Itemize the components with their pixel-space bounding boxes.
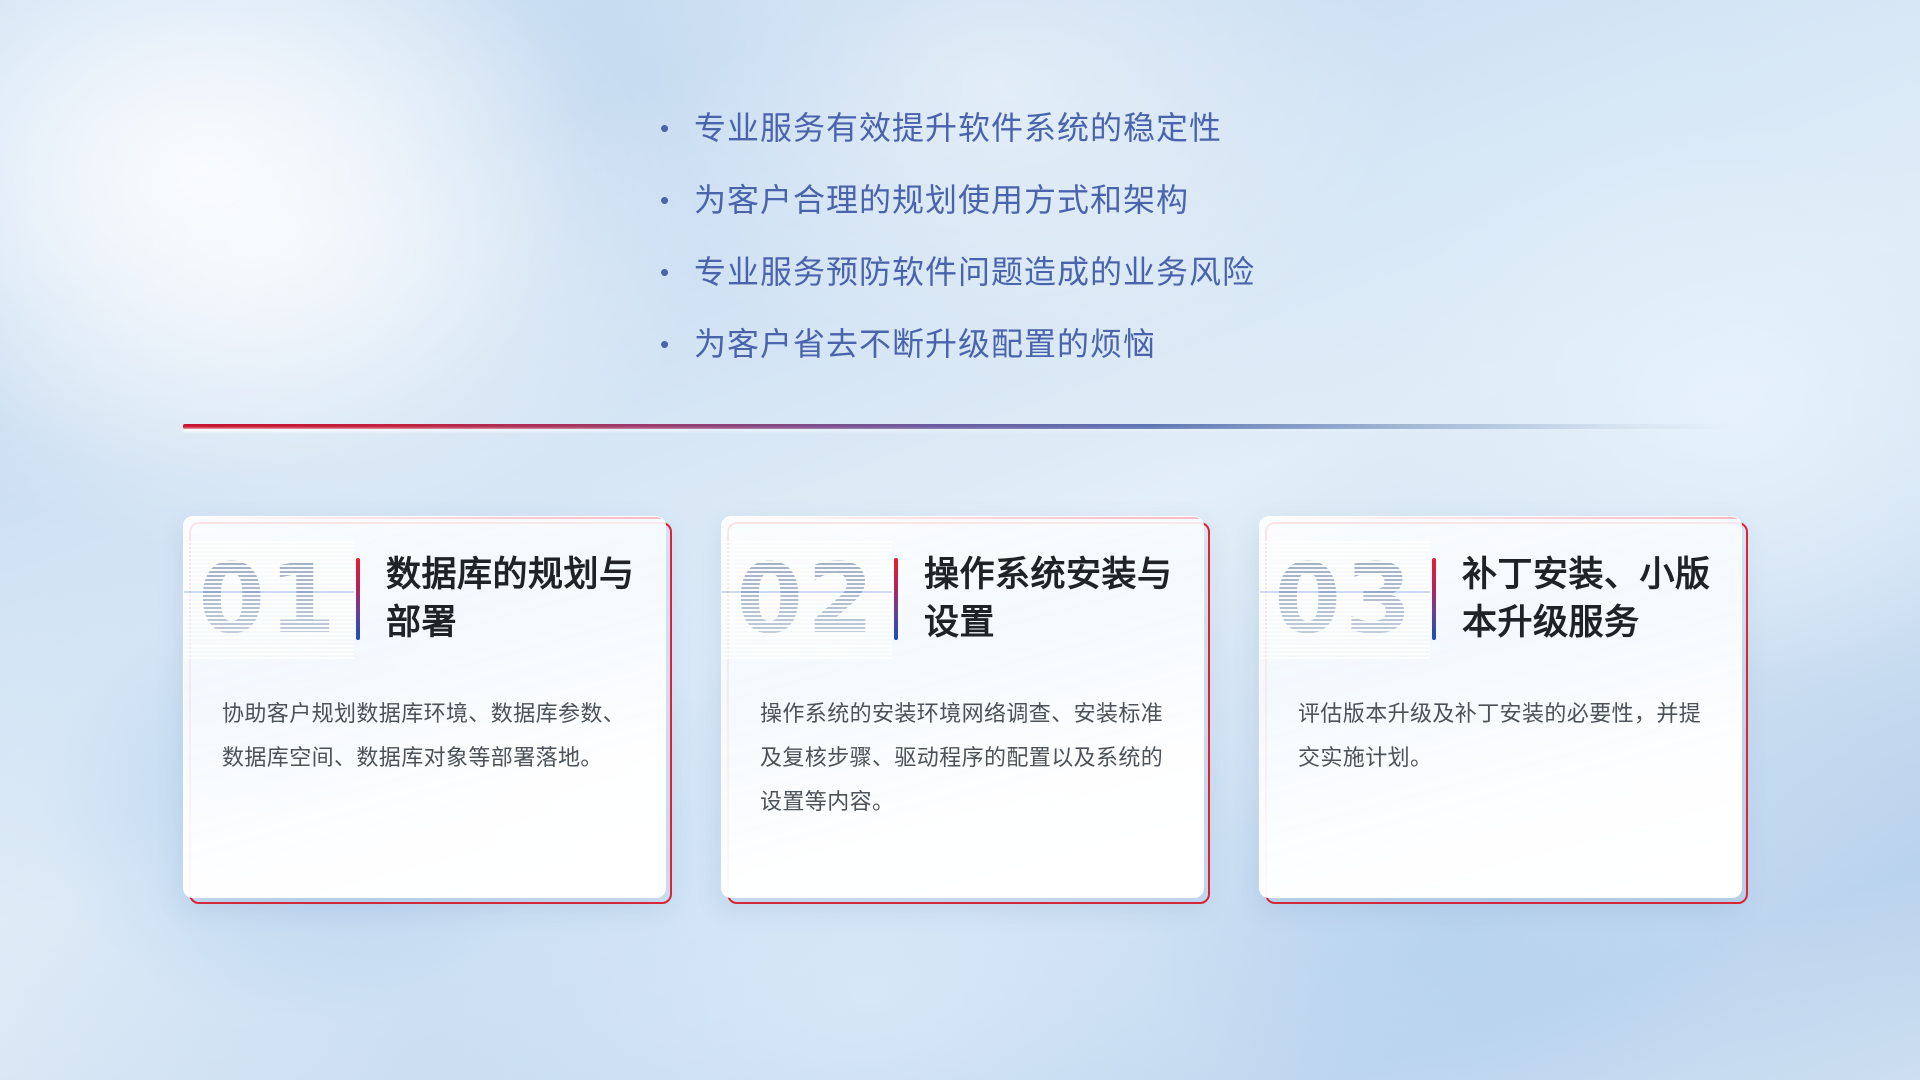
- bullet-text: 专业服务有效提升软件系统的稳定性: [694, 108, 1222, 148]
- bullet-dot-icon: •: [660, 180, 694, 220]
- slide-root: • 专业服务有效提升软件系统的稳定性 • 为客户合理的规划使用方式和架构 • 专…: [0, 0, 1920, 1080]
- card-title: 数据库的规划与部署: [386, 551, 665, 647]
- card-number-text: 01: [198, 539, 340, 659]
- card-number-watermark: 03: [1260, 539, 1430, 659]
- card-body-text: 操作系统的安装环境网络调查、安装标准及复核步骤、驱动程序的配置以及系统的设置等内…: [760, 693, 1173, 825]
- list-item: • 为客户合理的规划使用方式和架构: [660, 180, 1480, 220]
- card-surface: 03 补丁安装、小版本升级服务 评估版本升级及补丁安装的必要性，并提交实施计划。: [1259, 516, 1742, 898]
- card-header: 02 操作系统安装与设置: [722, 533, 1203, 665]
- divider-highlight: [183, 428, 1743, 432]
- card-surface: 01 数据库的规划与部署 协助客户规划数据库环境、数据库参数、数据库空间、数据库…: [183, 516, 666, 898]
- card-title: 操作系统安装与设置: [924, 551, 1203, 647]
- card-surface: 02 操作系统安装与设置 操作系统的安装环境网络调查、安装标准及复核步骤、驱动程…: [721, 516, 1204, 898]
- benefits-bullet-list: • 专业服务有效提升软件系统的稳定性 • 为客户合理的规划使用方式和架构 • 专…: [660, 108, 1480, 364]
- bullet-text: 为客户省去不断升级配置的烦恼: [694, 324, 1156, 364]
- card-header: 03 补丁安装、小版本升级服务: [1260, 533, 1741, 665]
- card-title-divider: [894, 558, 898, 640]
- card-title-divider: [356, 558, 360, 640]
- card-header: 01 数据库的规划与部署: [184, 533, 665, 665]
- bullet-text: 专业服务预防软件问题造成的业务风险: [694, 252, 1255, 292]
- card-number-watermark: 02: [722, 539, 892, 659]
- list-item: • 专业服务有效提升软件系统的稳定性: [660, 108, 1480, 148]
- card-number-watermark: 01: [184, 539, 354, 659]
- bullet-text: 为客户合理的规划使用方式和架构: [694, 180, 1189, 220]
- bullet-dot-icon: •: [660, 324, 694, 364]
- section-divider: [183, 424, 1743, 433]
- service-card-02[interactable]: 02 操作系统安装与设置 操作系统的安装环境网络调查、安装标准及复核步骤、驱动程…: [721, 516, 1204, 898]
- background-glow-top-left: [0, 0, 580, 480]
- card-number-text: 02: [736, 539, 878, 659]
- list-item: • 为客户省去不断升级配置的烦恼: [660, 324, 1480, 364]
- card-body-text: 协助客户规划数据库环境、数据库参数、数据库空间、数据库对象等部署落地。: [222, 693, 635, 781]
- bullet-dot-icon: •: [660, 252, 694, 292]
- card-number-text: 03: [1274, 539, 1416, 659]
- card-title: 补丁安装、小版本升级服务: [1462, 551, 1741, 647]
- service-card-03[interactable]: 03 补丁安装、小版本升级服务 评估版本升级及补丁安装的必要性，并提交实施计划。: [1259, 516, 1742, 898]
- card-body-text: 评估版本升级及补丁安装的必要性，并提交实施计划。: [1298, 693, 1711, 781]
- bullet-dot-icon: •: [660, 108, 694, 148]
- card-title-divider: [1432, 558, 1436, 640]
- service-card-list: 01 数据库的规划与部署 协助客户规划数据库环境、数据库参数、数据库空间、数据库…: [183, 516, 1743, 906]
- service-card-01[interactable]: 01 数据库的规划与部署 协助客户规划数据库环境、数据库参数、数据库空间、数据库…: [183, 516, 666, 898]
- list-item: • 专业服务预防软件问题造成的业务风险: [660, 252, 1480, 292]
